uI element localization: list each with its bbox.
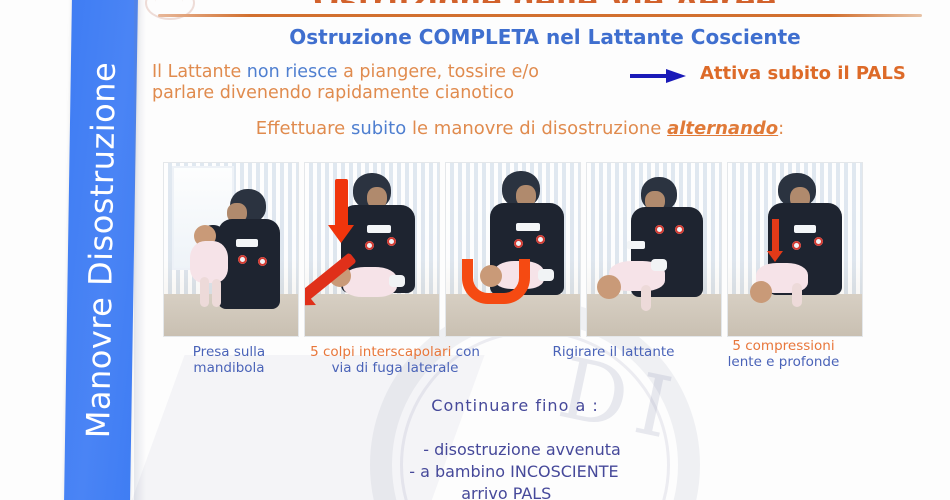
caption-presa-mandibola: Presa sulla mandibola <box>164 344 294 376</box>
sidebar-banner: Manovre Disostruzione <box>64 0 138 500</box>
caption3-line1: Rigirare il lattante <box>553 344 675 360</box>
right-arrow-icon <box>630 66 688 86</box>
page-title: Ostruzione delle Vie Aeree <box>140 0 950 3</box>
caption4-line2: lente e profonde <box>728 354 840 370</box>
photo-captions: Presa sulla mandibola 5 colpi interscapo… <box>156 342 876 382</box>
caption1-line1: Presa sulla <box>193 344 265 360</box>
overlay-compression-arrow-icon <box>772 219 779 253</box>
instruction-emphasis-blue: subito <box>351 118 406 139</box>
pals-callout: Attiva subito il PALS <box>700 63 906 84</box>
photo-strip <box>163 162 863 337</box>
caption2-line1-blue: con <box>451 344 480 360</box>
content-column: Ostruzione delle Vie Aeree Ostruzione CO… <box>140 0 950 500</box>
caption-colpi-interscapolari: 5 colpi interscapolari con via di fuga l… <box>295 344 495 376</box>
caption4-line1-orange: 5 compressioni <box>732 338 834 354</box>
instruction-line: Effettuare subito le manovre di disostru… <box>140 118 900 139</box>
caption2-line2: via di fuga laterale <box>332 360 459 376</box>
organization-logo-icon <box>145 0 195 20</box>
photo-presa-mandibola <box>163 162 299 337</box>
intro-line1-part3: a piangere, tossire e/o <box>338 62 539 82</box>
instruction-part1: Effettuare <box>256 118 351 139</box>
footer-item-0: - disostruzione avvenuta <box>409 439 621 461</box>
slide-canvas: DI Manovre Disostruzione Ostruzione dell… <box>0 0 950 500</box>
footer-list: - disostruzione avvenuta - a bambino INC… <box>409 439 621 500</box>
footer-item-2: arrivo PALS <box>409 483 621 500</box>
page-subtitle: Ostruzione COMPLETA nel Lattante Coscien… <box>140 25 950 49</box>
intro-line1-emphasis: non riesce <box>247 62 338 82</box>
instruction-colon: : <box>778 118 784 139</box>
instruction-part3: le manovre di disostruzione <box>406 118 667 139</box>
sidebar-title: Manovre Disostruzione <box>79 61 123 438</box>
caption-compressioni: 5 compressioni lente e profonde <box>711 338 856 370</box>
intro-paragraph: Il Lattante non riesce a piangere, tossi… <box>152 62 622 104</box>
caption2-line1-orange: 5 colpi interscapolari <box>310 344 451 360</box>
title-divider <box>158 14 922 17</box>
intro-line2: parlare divenendo rapidamente cianotico <box>152 83 514 103</box>
footer-heading: Continuare fino a : <box>140 395 890 417</box>
photo-colpi-interscapolari <box>304 162 440 337</box>
intro-line1-part1: Il Lattante <box>152 62 247 82</box>
caption1-line2: mandibola <box>193 360 264 376</box>
caption-rigirare-lattante: Rigirare il lattante <box>531 344 696 360</box>
photo-compressioni <box>727 162 863 337</box>
overlay-u-shape-icon <box>462 259 530 304</box>
overlay-down-arrow-icon <box>335 179 348 227</box>
photo-via-fuga-laterale <box>445 162 581 337</box>
footer-block: Continuare fino a : - disostruzione avve… <box>140 395 890 500</box>
photo-rigirare-lattante <box>586 162 722 337</box>
footer-item-1: - a bambino INCOSCIENTE <box>409 461 621 483</box>
instruction-emphasis-underline: alternando <box>667 118 778 139</box>
